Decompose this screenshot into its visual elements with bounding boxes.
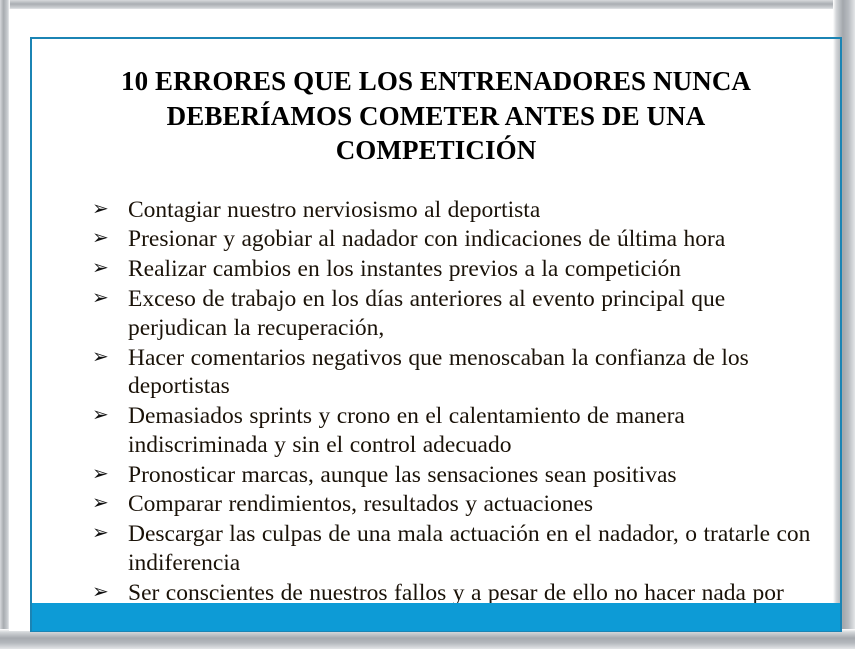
list-item-text: Descargar las culpas de una mala actuaci… bbox=[128, 521, 810, 576]
slide-frame: 10 ERRORES QUE LOS ENTRENADORES NUNCA DE… bbox=[0, 0, 855, 649]
footer-accent-band bbox=[32, 603, 840, 631]
mistakes-list: ➢ Contagiar nuestro nerviosismo al depor… bbox=[32, 168, 840, 637]
arrow-bullet-icon: ➢ bbox=[92, 284, 118, 311]
list-item-text: Realizar cambios en los instantes previo… bbox=[128, 256, 681, 282]
slide-title: 10 ERRORES QUE LOS ENTRENADORES NUNCA DE… bbox=[32, 39, 840, 168]
list-item: ➢ Presionar y agobiar al nadador con ind… bbox=[92, 225, 812, 254]
arrow-bullet-icon: ➢ bbox=[92, 254, 118, 281]
arrow-bullet-icon: ➢ bbox=[92, 224, 118, 251]
list-item-text: Comparar rendimientos, resultados y actu… bbox=[128, 491, 593, 517]
list-item: ➢ Descargar las culpas de una mala actua… bbox=[92, 520, 812, 578]
list-item: ➢ Realizar cambios en los instantes prev… bbox=[92, 255, 812, 284]
list-item-text: Contagiar nuestro nerviosismo al deporti… bbox=[128, 197, 540, 223]
list-item: ➢ Pronosticar marcas, aunque las sensaci… bbox=[92, 461, 812, 490]
list-item-text: Exceso de trabajo en los días anteriores… bbox=[128, 286, 725, 341]
list-item: ➢ Hacer comentarios negativos que menosc… bbox=[92, 344, 812, 402]
list-item: ➢ Contagiar nuestro nerviosismo al depor… bbox=[92, 196, 812, 225]
arrow-bullet-icon: ➢ bbox=[92, 578, 118, 605]
list-item-text: Presionar y agobiar al nadador con indic… bbox=[128, 226, 725, 252]
list-item: ➢ Demasiados sprints y crono en el calen… bbox=[92, 402, 812, 460]
arrow-bullet-icon: ➢ bbox=[92, 401, 118, 428]
list-item-text: Pronosticar marcas, aunque las sensacion… bbox=[128, 462, 677, 488]
arrow-bullet-icon: ➢ bbox=[92, 489, 118, 516]
slide-content: 10 ERRORES QUE LOS ENTRENADORES NUNCA DE… bbox=[32, 39, 840, 603]
list-item: ➢ Exceso de trabajo en los días anterior… bbox=[92, 285, 812, 343]
slide-page: 10 ERRORES QUE LOS ENTRENADORES NUNCA DE… bbox=[9, 9, 833, 631]
arrow-bullet-icon: ➢ bbox=[92, 343, 118, 370]
list-item-text: Demasiados sprints y crono en el calenta… bbox=[128, 403, 685, 458]
arrow-bullet-icon: ➢ bbox=[92, 195, 118, 222]
list-item-text: Hacer comentarios negativos que menoscab… bbox=[128, 345, 749, 400]
list-item: ➢ Comparar rendimientos, resultados y ac… bbox=[92, 490, 812, 519]
arrow-bullet-icon: ➢ bbox=[92, 519, 118, 546]
arrow-bullet-icon: ➢ bbox=[92, 460, 118, 487]
